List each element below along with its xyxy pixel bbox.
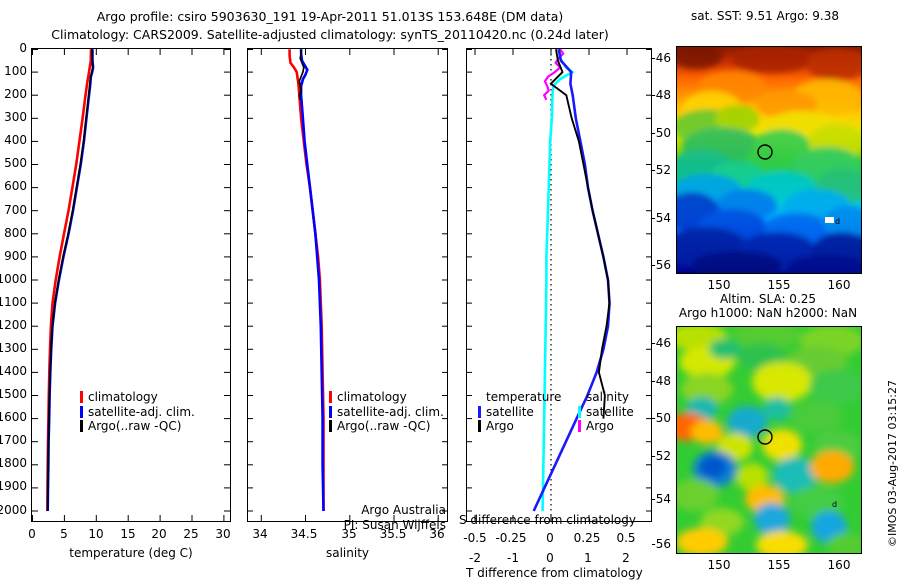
t-difference-xtick--2: -2 (458, 551, 492, 565)
sst-map-title: sat. SST: 9.51 Argo: 9.38 (665, 9, 865, 23)
sst-ytick--56: -56 (636, 258, 671, 272)
depth-tick-1000: 1000 (0, 272, 27, 286)
depth-tick-100: 100 (0, 64, 27, 78)
s-difference-axis-label: S difference from climatology (459, 513, 655, 527)
legend-item-salinity-argo: Argo (578, 419, 634, 434)
legend-swatch-spacer-temp (478, 391, 481, 403)
argo-australia-line1: Argo Australia (300, 503, 446, 518)
sla-xtick-160: 160 (823, 558, 855, 572)
t-difference-xtick-0: 0 (533, 551, 567, 565)
page-title-line2: Climatology: CARS2009. Satellite-adjuste… (0, 27, 660, 42)
salinity-axis-label: salinity (247, 546, 448, 560)
temperature-xtick-20: 20 (143, 527, 175, 541)
legend-label-salinity-satellite: satellite (586, 405, 634, 420)
legend-item-climatology-salinity: climatology (329, 390, 444, 405)
s-difference-xtick-0: 0 (533, 531, 567, 545)
legend-swatch-climatology-salinity (329, 391, 332, 403)
legend-label-argo: Argo(..raw -QC) (88, 419, 181, 434)
copyright-text: ©IMOS 03-Aug-2017 03:15:27 (886, 380, 899, 547)
s-difference-xtick--0.25: -0.25 (494, 531, 528, 545)
depth-tick-1600: 1600 (0, 410, 27, 424)
sla-xtick-155: 155 (763, 558, 795, 572)
depth-tick-1800: 1800 (0, 456, 27, 470)
legend-item-argo: Argo(..raw -QC) (80, 419, 195, 434)
salinity-satellite-difference-curve (543, 49, 573, 511)
t-difference-xtick-2: 2 (609, 551, 643, 565)
depth-tick-0: 0 (0, 41, 27, 55)
temperature-yticks (32, 50, 230, 512)
salinity-xtick-34: 34 (244, 527, 276, 541)
depth-tick-1700: 1700 (0, 433, 27, 447)
sst-xtick-150: 150 (703, 278, 735, 292)
temperature-axis-label: temperature (deg C) (31, 546, 231, 560)
legend-header-temperature: temperature (478, 390, 561, 405)
sla-ytick--54: -54 (636, 492, 671, 506)
sst-inset-label-box (825, 217, 834, 223)
salinity-plot-svg (248, 49, 447, 521)
sla-ytick--52: -52 (636, 449, 671, 463)
legend-header-salinity: salinity (578, 390, 634, 405)
t-difference-xtick-1: 1 (571, 551, 605, 565)
legend-header-salinity-label: salinity (586, 390, 629, 405)
legend-label-salinity-argo: Argo (586, 419, 614, 434)
legend-label-temperature-argo: Argo (486, 419, 514, 434)
t-difference-xtick--1: -1 (496, 551, 530, 565)
depth-tick-400: 400 (0, 133, 27, 147)
depth-tick-1300: 1300 (0, 341, 27, 355)
salinity-legend: climatology satellite-adj. clim. Argo(..… (329, 390, 444, 434)
temperature-profile-panel (31, 48, 231, 522)
sla-map-title-line2: Argo h1000: NaN h2000: NaN (663, 306, 873, 320)
legend-item-satellite-adj: satellite-adj. clim. (80, 405, 195, 420)
temperature-xtick-0: 0 (16, 527, 48, 541)
legend-swatch-climatology (80, 391, 83, 403)
argo-australia-annotation: Argo Australia PI: Susan Wijffels (300, 503, 446, 532)
sla-ytick--46: -46 (636, 336, 671, 350)
temperature-xticks (33, 49, 224, 521)
depth-tick-500: 500 (0, 156, 27, 170)
sst-ytick--48: -48 (636, 88, 671, 102)
page-title-line1: Argo profile: csiro 5903630_191 19-Apr-2… (0, 9, 660, 24)
legend-item-temperature-argo: Argo (478, 419, 561, 434)
s-difference-xtick--0.5: -0.5 (458, 531, 492, 545)
sla-inset-label-text: d (832, 500, 837, 509)
sst-xtick-160: 160 (823, 278, 855, 292)
salinity-profile-panel (247, 48, 448, 522)
sla-xtick-150: 150 (703, 558, 735, 572)
temperature-xtick-25: 25 (175, 527, 207, 541)
legend-header-temperature-label: temperature (486, 390, 561, 405)
sst-map-svg: d (677, 47, 861, 273)
legend-swatch-satellite-adj-salinity (329, 406, 332, 418)
depth-tick-1400: 1400 (0, 364, 27, 378)
sst-ytick--46: -46 (636, 51, 671, 65)
legend-swatch-satellite-adj (80, 406, 83, 418)
legend-item-salinity-satellite: satellite (578, 405, 634, 420)
t-difference-axis-label: T difference from climatology (466, 566, 662, 580)
difference-profile-panel (466, 48, 652, 522)
depth-tick-200: 200 (0, 87, 27, 101)
depth-tick-2000: 2000 (0, 503, 27, 517)
legend-swatch-argo-salinity (329, 420, 332, 432)
temperature-argo-difference-curve (551, 49, 610, 418)
legend-swatch-spacer-sal (578, 391, 581, 403)
depth-tick-1500: 1500 (0, 387, 27, 401)
legend-swatch-temperature-satellite (478, 406, 481, 418)
difference-legend-temperature: temperature satellite Argo (478, 390, 561, 434)
sla-field-texture (677, 327, 861, 553)
salinity-xticks (261, 49, 438, 521)
legend-label-satellite-adj: satellite-adj. clim. (88, 405, 195, 420)
temperature-xtick-15: 15 (112, 527, 144, 541)
sla-ytick--48: -48 (636, 374, 671, 388)
argo-australia-line2: PI: Susan Wijffels (300, 518, 446, 533)
sst-ytick--54: -54 (636, 211, 671, 225)
difference-plot-svg (467, 49, 651, 521)
legend-label-climatology-salinity: climatology (337, 390, 407, 405)
sla-map-svg: d (677, 327, 861, 553)
legend-label-temperature-satellite: satellite (486, 405, 534, 420)
legend-item-climatology: climatology (80, 390, 195, 405)
sla-map-panel: d (676, 326, 862, 554)
temperature-plot-svg (32, 49, 230, 521)
difference-yticks (467, 50, 651, 512)
sla-ytick--50: -50 (636, 411, 671, 425)
sla-ytick--56: -56 (636, 537, 671, 551)
legend-item-argo-salinity: Argo(..raw -QC) (329, 419, 444, 434)
depth-tick-700: 700 (0, 203, 27, 217)
temperature-legend: climatology satellite-adj. clim. Argo(..… (80, 390, 195, 434)
depth-tick-1900: 1900 (0, 479, 27, 493)
legend-item-temperature-satellite: satellite (478, 405, 561, 420)
sla-map-title-line1: Altim. SLA: 0.25 (663, 292, 873, 306)
legend-swatch-argo (80, 420, 83, 432)
legend-label-argo-salinity: Argo(..raw -QC) (337, 419, 430, 434)
legend-swatch-salinity-satellite (578, 406, 581, 418)
temperature-xtick-5: 5 (48, 527, 80, 541)
salinity-yticks (248, 50, 447, 512)
legend-label-satellite-adj-salinity: satellite-adj. clim. (337, 405, 444, 420)
depth-tick-600: 600 (0, 179, 27, 193)
temperature-climatology-curve (47, 49, 91, 511)
difference-legend-salinity: salinity satellite Argo (578, 390, 634, 434)
depth-tick-1200: 1200 (0, 318, 27, 332)
depth-tick-1100: 1100 (0, 295, 27, 309)
s-difference-xtick-0.25: 0.25 (570, 531, 604, 545)
sst-map-panel: d (676, 46, 862, 274)
depth-tick-900: 900 (0, 249, 27, 263)
legend-swatch-salinity-argo (578, 420, 581, 432)
depth-tick-800: 800 (0, 226, 27, 240)
sst-ytick--52: -52 (636, 163, 671, 177)
sla-map-title: Altim. SLA: 0.25 Argo h1000: NaN h2000: … (663, 292, 873, 320)
legend-item-satellite-adj-salinity: satellite-adj. clim. (329, 405, 444, 420)
legend-swatch-temperature-argo (478, 420, 481, 432)
salinity-satellite-adj-curve (301, 49, 323, 511)
sst-inset-label-text: d (835, 217, 840, 226)
sst-xtick-155: 155 (763, 278, 795, 292)
depth-tick-300: 300 (0, 110, 27, 124)
temperature-xtick-30: 30 (207, 527, 239, 541)
temperature-xtick-10: 10 (80, 527, 112, 541)
legend-label-climatology: climatology (88, 390, 158, 405)
sst-ytick--50: -50 (636, 126, 671, 140)
